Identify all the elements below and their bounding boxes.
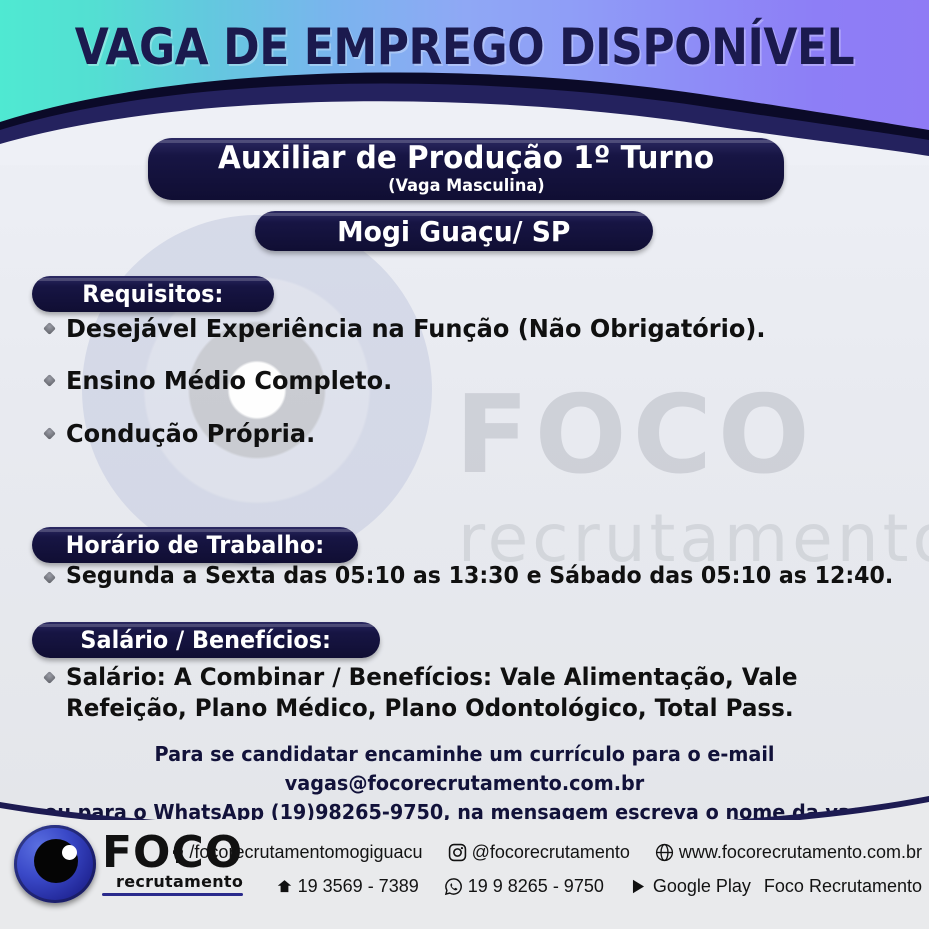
contact-row-phones: 19 3569 - 7389 19 9 8265 - 9750 — [222, 876, 922, 897]
bullet-icon — [43, 374, 56, 387]
bullet-icon — [43, 427, 56, 440]
website-contact[interactable]: www.focorecrutamento.com.br — [655, 842, 922, 863]
section-label-salary: Salário / Benefícios: — [32, 622, 380, 658]
eye-logo-icon — [14, 825, 96, 903]
facebook-contact[interactable]: /focorecrutamentomogiguacu — [171, 842, 422, 863]
eye-glint — [62, 845, 77, 860]
globe-icon — [655, 843, 674, 862]
website-url: www.focorecrutamento.com.br — [679, 842, 922, 863]
contact-info: /focorecrutamentomogiguacu @focorecrutam… — [222, 842, 922, 897]
instagram-contact[interactable]: @focorecrutamento — [448, 842, 630, 863]
job-city-pill: Mogi Guaçu/ SP — [255, 211, 653, 251]
phone-number: 19 3569 - 7389 — [298, 876, 419, 897]
contact-row-social: /focorecrutamentomogiguacu @focorecrutam… — [222, 842, 922, 863]
job-title-pill: Auxiliar de Produção 1º Turno (Vaga Masc… — [148, 138, 784, 200]
whatsapp-contact[interactable]: 19 9 8265 - 9750 — [444, 876, 604, 897]
requirement-text: Desejável Experiência na Função (Não Obr… — [66, 313, 765, 345]
job-city: Mogi Guaçu/ SP — [337, 215, 570, 248]
phone-contact[interactable]: 19 3569 - 7389 — [276, 876, 419, 897]
bullet-icon — [43, 571, 56, 584]
bullet-icon — [43, 322, 56, 335]
whatsapp-icon — [444, 877, 463, 896]
job-subtitle: (Vaga Masculina) — [388, 176, 544, 196]
bullet-icon — [43, 671, 56, 684]
play-icon — [629, 877, 648, 896]
facebook-icon — [171, 843, 184, 863]
section-label-schedule: Horário de Trabalho: — [32, 527, 358, 563]
list-item: Desejável Experiência na Função (Não Obr… — [45, 313, 795, 345]
phone-icon — [276, 878, 293, 895]
requirement-text: Ensino Médio Completo. — [66, 365, 392, 397]
requirements-label: Requisitos: — [82, 280, 223, 308]
instagram-handle: @focorecrutamento — [472, 842, 630, 863]
list-item: Salário: A Combinar / Benefícios: Vale A… — [45, 662, 925, 723]
googleplay-contact[interactable]: Google Play Foco Recrutamento — [629, 876, 922, 897]
job-posting-poster: FOCO recrutamento VAGA DE EMPREGO DISPON… — [0, 0, 929, 929]
instagram-icon — [448, 843, 467, 862]
salary-label: Salário / Benefícios: — [81, 626, 332, 654]
brand-logo: FOCO recrutamento — [14, 825, 243, 903]
googleplay-app-name: Foco Recrutamento — [764, 876, 922, 897]
salary-text: Salário: A Combinar / Benefícios: Vale A… — [66, 662, 891, 723]
section-label-requirements: Requisitos: — [32, 276, 274, 312]
list-item: Ensino Médio Completo. — [45, 365, 406, 397]
list-item: Segunda a Sexta das 05:10 as 13:30 e Sáb… — [45, 562, 928, 591]
schedule-text: Segunda a Sexta das 05:10 as 13:30 e Sáb… — [66, 562, 893, 591]
job-title: Auxiliar de Produção 1º Turno — [218, 143, 714, 174]
requirement-text: Condução Própria. — [66, 418, 315, 450]
facebook-handle: /focorecrutamentomogiguacu — [189, 842, 422, 863]
footer: FOCO recrutamento /focorecrutamentomogig… — [0, 820, 929, 929]
googleplay-label: Google Play — [653, 876, 751, 897]
whatsapp-number: 19 9 8265 - 9750 — [468, 876, 604, 897]
list-item: Condução Própria. — [45, 418, 326, 450]
schedule-label: Horário de Trabalho: — [66, 531, 324, 559]
